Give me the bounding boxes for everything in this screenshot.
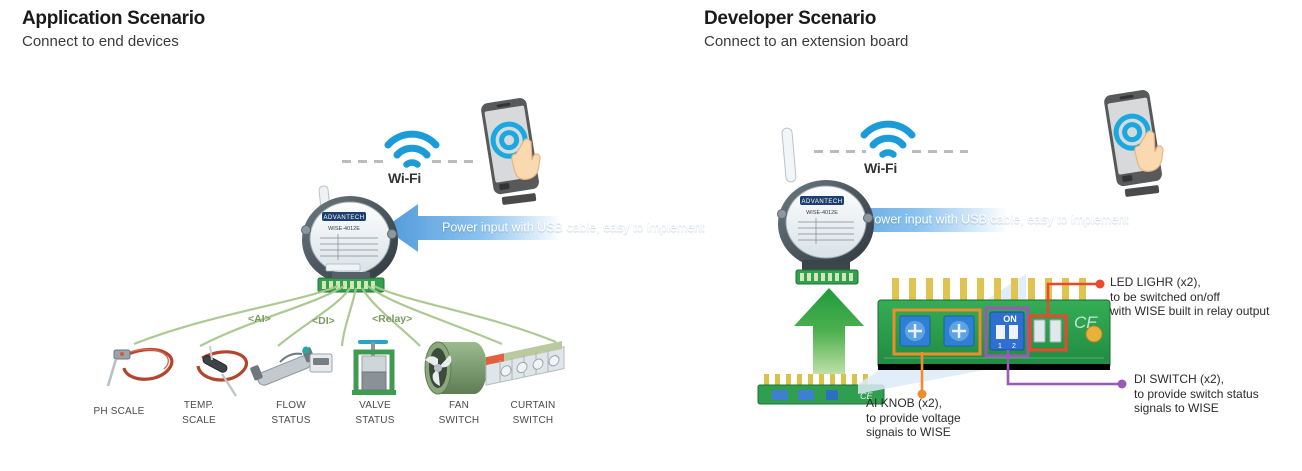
ai-connector-label: <AI>	[248, 313, 271, 325]
application-scenario-panel: Application Scenario Connect to end devi…	[0, 0, 690, 471]
usb-banner-line2-right: cable, easy to implement	[990, 213, 1128, 227]
curtain-device	[482, 340, 582, 398]
page-subtitle: Connect to end devices	[22, 33, 179, 50]
ai-knob-callout: AI KNOB (x2), to provide voltage signais…	[866, 396, 961, 440]
flow-status-caption: FLOW STATUS	[246, 398, 336, 428]
relay-connector-label: <Relay>	[372, 313, 412, 325]
usb-banner-text-right: Power input with USB cable, easy to impl…	[866, 213, 1129, 228]
valve-status-caption: VALVE STATUS	[330, 398, 420, 428]
di-connector-label: <DI>	[312, 315, 335, 327]
usb-banner-line2: cable, easy to implement	[566, 221, 704, 235]
smartphone-icon	[466, 96, 556, 208]
page-title: Application Scenario	[22, 8, 205, 30]
svg-text:WISE-4012E: WISE-4012E	[806, 210, 838, 216]
wifi-label: Wi-Fi	[388, 170, 421, 186]
usb-banner-text: Power input with USB cable, easy to impl…	[442, 221, 705, 236]
svg-text:WISE-4012E: WISE-4012E	[328, 226, 360, 232]
led-light-callout: LED LIGHR (x2), to be switched on/off wi…	[1110, 275, 1269, 319]
wifi-icon	[382, 128, 442, 170]
flow-meter-device	[250, 340, 340, 398]
usb-power-banner: Power input with USB cable, easy to impl…	[384, 202, 562, 254]
usb-banner-line1: Power input with USB	[442, 221, 563, 235]
ph-scale-device	[100, 338, 186, 398]
di-switch-callout: DI SWITCH (x2), to provide switch status…	[1134, 372, 1259, 416]
valve-device	[340, 334, 410, 398]
svg-text:ADVANTECH: ADVANTECH	[323, 215, 364, 221]
developer-scenario-panel: Developer Scenario Connect to an extensi…	[690, 0, 1302, 471]
curtain-switch-caption: CURTAIN SWITCH	[488, 398, 578, 428]
smartphone-icon-right	[1089, 88, 1179, 200]
page-title-right: Developer Scenario	[704, 8, 876, 30]
wifi-dash-right-right	[912, 150, 968, 153]
ph-scale-caption: PH SCALE	[74, 404, 164, 419]
svg-text:ADVANTECH: ADVANTECH	[801, 199, 842, 205]
page-subtitle-right: Connect to an extension board	[704, 33, 908, 50]
temp-scale-caption: TEMP. SCALE	[154, 398, 244, 428]
